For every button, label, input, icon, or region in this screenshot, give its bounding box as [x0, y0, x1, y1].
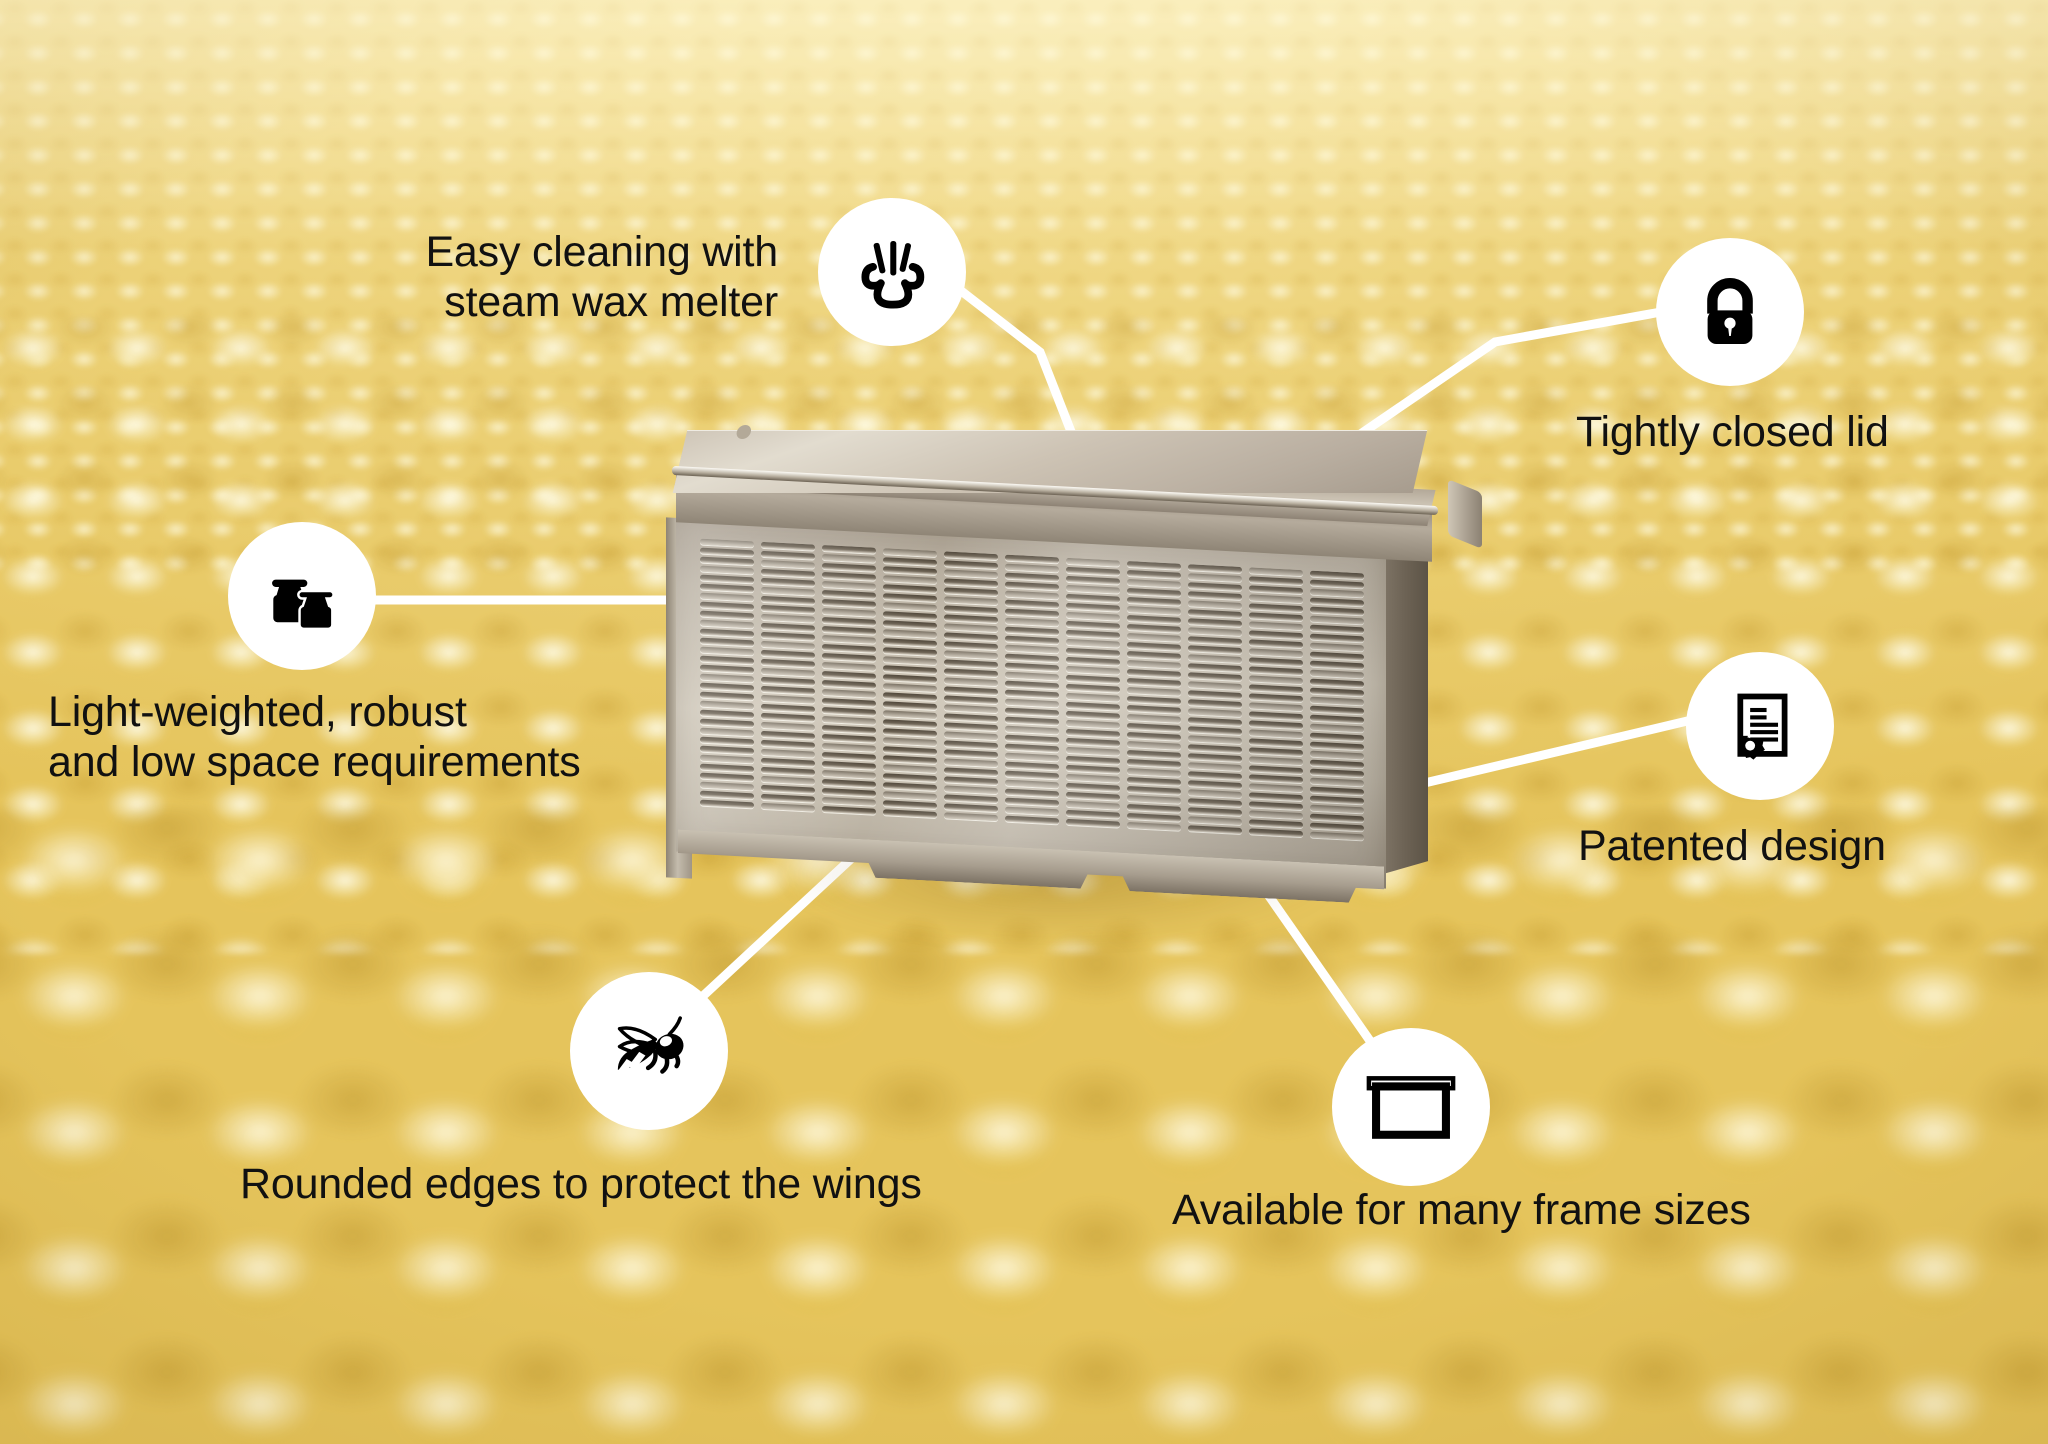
product-slot — [822, 572, 876, 581]
product-slot — [822, 689, 876, 698]
product-slot — [944, 812, 998, 821]
product-slot — [761, 596, 815, 605]
product-slot — [1005, 663, 1059, 672]
product-slot — [1188, 645, 1242, 654]
padlock-icon — [1690, 272, 1770, 352]
product-slot — [1005, 708, 1059, 717]
product-slot — [944, 731, 998, 740]
product-slot — [1188, 690, 1242, 699]
product-slot — [700, 629, 754, 638]
product-slot — [761, 569, 815, 578]
product-slot — [822, 608, 876, 617]
product-slot — [1249, 693, 1303, 702]
product-slot — [1249, 801, 1303, 810]
product-slot — [1188, 663, 1242, 672]
callout-label-rounded-edges: Rounded edges to protect the wings — [240, 1160, 1060, 1210]
product-slot — [1188, 753, 1242, 762]
product-image — [666, 430, 1456, 970]
product-slot — [700, 602, 754, 611]
product-slot — [944, 668, 998, 677]
product-slot — [1249, 612, 1303, 621]
product-slot — [822, 734, 876, 743]
callout-bubble-frame-sizes[interactable] — [1332, 1028, 1490, 1186]
product-slot — [761, 731, 815, 740]
product-slot — [822, 761, 876, 770]
product-slot — [700, 656, 754, 665]
product-slot — [822, 671, 876, 680]
product-slot — [1310, 751, 1364, 760]
product-slot — [944, 713, 998, 722]
product-slot — [1127, 642, 1181, 651]
product-slot — [883, 809, 937, 818]
product-slot — [822, 680, 876, 689]
product-slot — [1066, 576, 1120, 585]
product-slot — [883, 755, 937, 764]
product-slot — [822, 554, 876, 563]
product-slot — [1188, 681, 1242, 690]
product-slot — [1249, 765, 1303, 774]
steam-nose-icon — [849, 229, 935, 315]
product-slot — [1188, 699, 1242, 708]
product-slot — [700, 665, 754, 674]
product-slot — [1066, 792, 1120, 801]
product-slot — [1127, 714, 1181, 723]
product-slot — [1066, 666, 1120, 675]
product-slot — [1310, 688, 1364, 697]
product-slot — [1066, 801, 1120, 810]
product-slot — [1188, 600, 1242, 609]
product-slot — [1127, 687, 1181, 696]
product-slot — [1249, 711, 1303, 720]
product-slot — [1188, 771, 1242, 780]
product-slot — [1249, 720, 1303, 729]
callout-bubble-patented-design[interactable] — [1686, 652, 1834, 800]
product-slot — [761, 578, 815, 587]
product-slot — [761, 767, 815, 776]
product-slot — [1310, 814, 1364, 823]
callout-label-light-weighted: Light-weighted, robust and low space req… — [48, 688, 768, 788]
product-slot — [883, 710, 937, 719]
product-slot — [1127, 669, 1181, 678]
product-slot — [761, 632, 815, 641]
product-slot — [761, 668, 815, 677]
product-slot — [1127, 588, 1181, 597]
product-slot — [883, 575, 937, 584]
product-slot-grid — [700, 539, 1364, 864]
product-slot — [1127, 597, 1181, 606]
product-slot — [761, 551, 815, 560]
product-slot — [1249, 774, 1303, 783]
product-slot — [883, 611, 937, 620]
product-slot — [883, 656, 937, 665]
product-slot — [1127, 813, 1181, 822]
product-slot — [1188, 654, 1242, 663]
product-slot — [883, 557, 937, 566]
product-slot-column — [822, 545, 876, 838]
product-slot — [1005, 627, 1059, 636]
product-slot — [1310, 616, 1364, 625]
product-slot — [1066, 585, 1120, 594]
product-slot — [944, 785, 998, 794]
product-slot — [1188, 708, 1242, 717]
product-slot — [1127, 822, 1181, 831]
product-slot — [1005, 609, 1059, 618]
product-slot — [1005, 744, 1059, 753]
product-slot — [1127, 741, 1181, 750]
product-slot — [1005, 735, 1059, 744]
product-slot — [1310, 598, 1364, 607]
product-slot — [1066, 702, 1120, 711]
product-slot — [944, 596, 998, 605]
product-slot — [1066, 603, 1120, 612]
product-slot — [1005, 816, 1059, 825]
callout-bubble-tightly-closed-lid[interactable] — [1656, 238, 1804, 386]
product-slot — [761, 650, 815, 659]
product-slot — [1188, 573, 1242, 582]
product-slot — [1066, 747, 1120, 756]
product-slot — [883, 764, 937, 773]
product-slot — [822, 716, 876, 725]
product-slot — [1188, 726, 1242, 735]
product-slot — [883, 665, 937, 674]
product-slot — [883, 701, 937, 710]
product-slot — [1066, 594, 1120, 603]
product-slot — [1005, 654, 1059, 663]
product-slot — [822, 644, 876, 653]
product-slot — [1188, 735, 1242, 744]
product-slot — [883, 593, 937, 602]
product-slot — [1066, 693, 1120, 702]
product-slot — [1005, 690, 1059, 699]
product-slot — [1005, 780, 1059, 789]
callout-label-patented-design: Patented design — [1578, 822, 2048, 872]
product-slot — [822, 779, 876, 788]
product-slot — [700, 575, 754, 584]
product-slot — [1310, 661, 1364, 670]
product-slot — [1310, 823, 1364, 832]
product-slot — [1005, 636, 1059, 645]
product-slot — [761, 605, 815, 614]
product-slot — [761, 722, 815, 731]
product-slot — [1249, 819, 1303, 828]
product-slot — [944, 578, 998, 587]
product-slot — [1066, 621, 1120, 630]
product-slot — [944, 722, 998, 731]
callout-bubble-easy-cleaning[interactable] — [818, 198, 966, 346]
callout-bubble-rounded-edges[interactable] — [570, 972, 728, 1130]
product-slot — [1249, 675, 1303, 684]
product-slot-column — [883, 548, 937, 841]
product-slot — [1188, 762, 1242, 771]
product-slot — [1188, 825, 1242, 834]
product-slot — [1188, 798, 1242, 807]
product-slot-column — [1249, 567, 1303, 860]
product-slot-column — [761, 542, 815, 835]
product-slot — [1127, 750, 1181, 759]
product-slot — [700, 800, 754, 809]
product-slot — [761, 776, 815, 785]
product-slot — [1127, 705, 1181, 714]
product-slot — [761, 641, 815, 650]
product-slot — [1310, 769, 1364, 778]
product-slot — [1249, 585, 1303, 594]
product-slot — [883, 728, 937, 737]
product-slot — [1310, 652, 1364, 661]
product-slot — [700, 611, 754, 620]
product-slot — [822, 563, 876, 572]
product-slot — [944, 767, 998, 776]
infographic-canvas: Easy cleaning with steam wax melter Tigh… — [0, 0, 2048, 1444]
product-slot — [1005, 591, 1059, 600]
product-slot — [1066, 720, 1120, 729]
certificate-icon — [1719, 685, 1801, 767]
product-slot — [1310, 607, 1364, 616]
product-slot — [1127, 777, 1181, 786]
product-slot — [1127, 723, 1181, 732]
product-slot — [761, 758, 815, 767]
product-slot — [1005, 681, 1059, 690]
product-slot — [944, 749, 998, 758]
product-slot — [1249, 603, 1303, 612]
product-slot — [883, 620, 937, 629]
product-slot — [822, 788, 876, 797]
product-slot — [1310, 706, 1364, 715]
product-slot — [761, 614, 815, 623]
product-slot — [1066, 756, 1120, 765]
product-slot — [1310, 715, 1364, 724]
product-slot — [944, 632, 998, 641]
product-slot — [822, 626, 876, 635]
product-slot — [1066, 567, 1120, 576]
product-slot — [1005, 753, 1059, 762]
product-slot — [944, 569, 998, 578]
product-slot — [1249, 666, 1303, 675]
product-slot — [1188, 807, 1242, 816]
product-slot — [1249, 792, 1303, 801]
product-slot — [822, 599, 876, 608]
product-slot — [1005, 699, 1059, 708]
product-slot-column — [1005, 555, 1059, 848]
product-slot — [1066, 738, 1120, 747]
product-slot — [1005, 798, 1059, 807]
product-slot — [1188, 816, 1242, 825]
product-slot — [1249, 684, 1303, 693]
product-slot — [1249, 594, 1303, 603]
product-slot — [1310, 742, 1364, 751]
product-slot — [700, 791, 754, 800]
product-slot — [1310, 697, 1364, 706]
product-slot — [1066, 711, 1120, 720]
product-slot — [944, 740, 998, 749]
product-slot — [883, 566, 937, 575]
product-slot — [822, 662, 876, 671]
product-slot — [1127, 768, 1181, 777]
product-slot — [761, 785, 815, 794]
product-slot — [761, 740, 815, 749]
product-slot — [1005, 762, 1059, 771]
product-slot — [944, 605, 998, 614]
product-slot-column — [1066, 558, 1120, 851]
product-slot — [1249, 630, 1303, 639]
product-slot — [700, 548, 754, 557]
product-slot — [883, 629, 937, 638]
product-slot — [883, 647, 937, 656]
product-slot — [1005, 717, 1059, 726]
product-slot — [944, 794, 998, 803]
product-slot — [1188, 627, 1242, 636]
product-slot — [1188, 591, 1242, 600]
product-slot — [761, 587, 815, 596]
product-slot — [1310, 679, 1364, 688]
product-slot — [761, 749, 815, 758]
callout-bubble-light-weighted[interactable] — [228, 522, 376, 670]
product-slot — [761, 677, 815, 686]
product-slot — [883, 674, 937, 683]
product-slot — [761, 686, 815, 695]
product-slot — [822, 635, 876, 644]
product-slot — [883, 791, 937, 800]
product-slot — [1310, 778, 1364, 787]
product-slot — [700, 647, 754, 656]
product-slot — [822, 617, 876, 626]
product-slot — [1127, 759, 1181, 768]
product-slot — [1127, 570, 1181, 579]
product-slot — [761, 704, 815, 713]
product-slot — [1249, 648, 1303, 657]
product-slot — [700, 638, 754, 647]
product-slot — [1127, 795, 1181, 804]
product-slot — [822, 797, 876, 806]
product-slot — [822, 770, 876, 779]
product-slot — [1249, 657, 1303, 666]
product-slot — [1127, 678, 1181, 687]
product-slot-column — [1188, 564, 1242, 857]
product-slot — [1188, 744, 1242, 753]
product-slot — [1310, 625, 1364, 634]
product-slot — [822, 806, 876, 815]
product-slot — [1005, 600, 1059, 609]
product-slot-column — [1127, 561, 1181, 854]
product-slot — [1188, 609, 1242, 618]
product-slot-column — [1310, 571, 1364, 864]
product-slot — [883, 638, 937, 647]
product-slot — [944, 677, 998, 686]
product-slot — [1310, 733, 1364, 742]
product-slot — [1005, 618, 1059, 627]
product-slot — [1066, 675, 1120, 684]
product-slot — [822, 590, 876, 599]
product-slot — [944, 614, 998, 623]
product-slot — [883, 773, 937, 782]
hive-frame-icon — [1361, 1064, 1461, 1150]
product-slot — [1310, 787, 1364, 796]
product-slot — [1188, 636, 1242, 645]
product-slot — [944, 641, 998, 650]
product-slot — [1066, 630, 1120, 639]
product-slot — [944, 758, 998, 767]
product-slot — [944, 623, 998, 632]
product-slot — [944, 659, 998, 668]
product-slot — [1249, 702, 1303, 711]
product-slot — [1249, 783, 1303, 792]
product-slot — [944, 776, 998, 785]
callout-label-tightly-closed-lid: Tightly closed lid — [1576, 408, 2048, 458]
product-slot — [1310, 796, 1364, 805]
weights-icon — [261, 555, 343, 637]
product-slot — [944, 704, 998, 713]
callout-label-frame-sizes: Available for many frame sizes — [1172, 1186, 1932, 1236]
product-slot — [761, 713, 815, 722]
product-slot — [1127, 633, 1181, 642]
product-slot — [1188, 582, 1242, 591]
product-slot — [822, 707, 876, 716]
product-slot — [761, 794, 815, 803]
product-slot — [700, 593, 754, 602]
product-slot — [944, 695, 998, 704]
product-slot — [1127, 660, 1181, 669]
product-slot — [1005, 807, 1059, 816]
product-slot — [1005, 645, 1059, 654]
product-slot — [883, 782, 937, 791]
product-slot — [1066, 684, 1120, 693]
product-slot — [1249, 576, 1303, 585]
product-slot — [1188, 672, 1242, 681]
product-slot — [761, 803, 815, 812]
product-slot — [1310, 760, 1364, 769]
product-slot — [1005, 573, 1059, 582]
product-lid-top — [673, 430, 1428, 493]
product-slot — [1127, 804, 1181, 813]
product-slot — [1188, 618, 1242, 627]
product-slot — [883, 692, 937, 701]
product-slot — [1127, 786, 1181, 795]
product-slot — [1249, 828, 1303, 837]
callout-label-easy-cleaning: Easy cleaning with steam wax melter — [378, 228, 778, 328]
product-slot — [1127, 579, 1181, 588]
product-slot — [1066, 612, 1120, 621]
product-slot — [1310, 580, 1364, 589]
product-slot — [1310, 589, 1364, 598]
product-slot — [1188, 780, 1242, 789]
product-slot — [1310, 805, 1364, 814]
product-slot — [1127, 732, 1181, 741]
product-slot — [1005, 771, 1059, 780]
product-slot — [1005, 789, 1059, 798]
product-slot — [700, 566, 754, 575]
product-slot — [1310, 724, 1364, 733]
product-slot — [944, 587, 998, 596]
product-slot — [700, 674, 754, 683]
product-slot — [700, 584, 754, 593]
product-slot — [944, 686, 998, 695]
product-slot — [1005, 726, 1059, 735]
product-slot — [883, 737, 937, 746]
product-slot — [761, 659, 815, 668]
product-slot — [1310, 643, 1364, 652]
product-slot — [822, 752, 876, 761]
product-slot — [1127, 606, 1181, 615]
product-slot — [883, 746, 937, 755]
product-slot — [761, 695, 815, 704]
product-slot — [1066, 783, 1120, 792]
product-slot — [822, 743, 876, 752]
product-slot — [1188, 789, 1242, 798]
product-slot — [1127, 615, 1181, 624]
product-slot — [1005, 672, 1059, 681]
product-slot — [944, 560, 998, 569]
product-slot — [1005, 564, 1059, 573]
product-slot — [1127, 651, 1181, 660]
